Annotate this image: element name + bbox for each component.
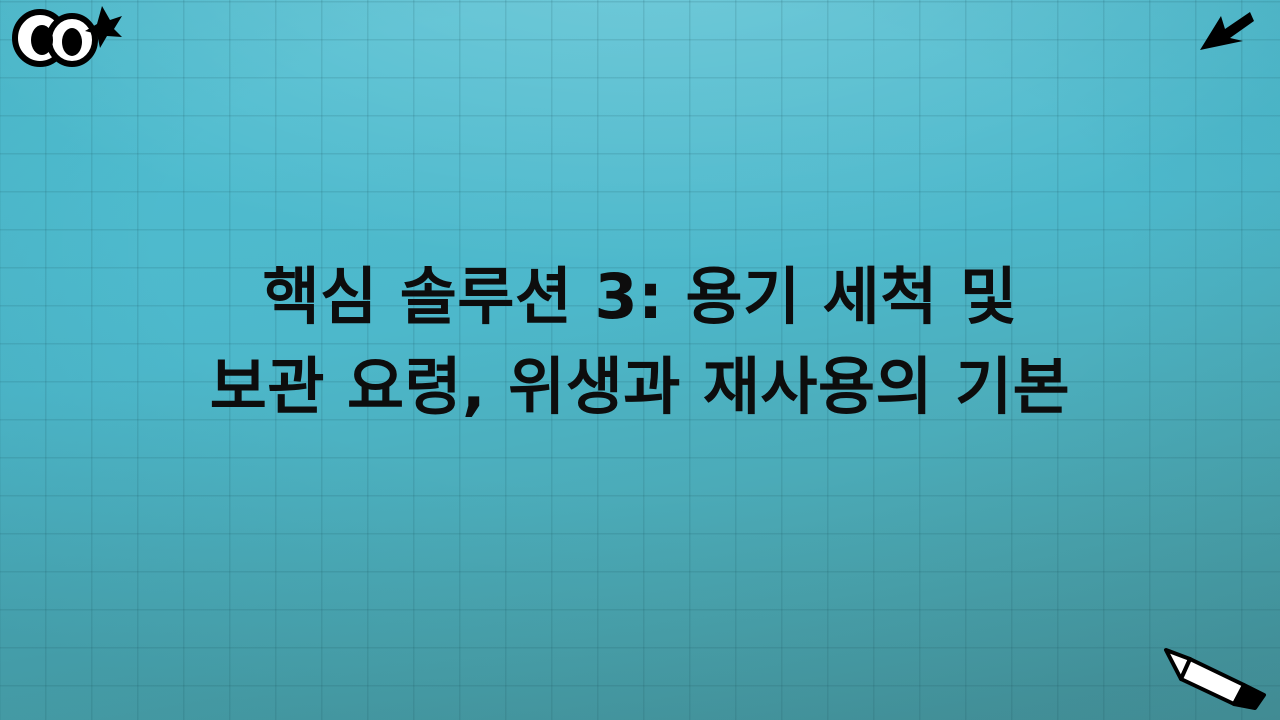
- arrow-down-left-icon: [1198, 8, 1254, 54]
- background-vignette: [0, 0, 1280, 720]
- arrow-glyph: [1198, 8, 1254, 54]
- eyes-with-star-logo: [6, 4, 122, 70]
- pencil-icon: [1160, 638, 1270, 712]
- slide-canvas: 핵심 솔루션 3: 용기 세척 및 보관 요령, 위생과 재사용의 기본: [0, 0, 1280, 720]
- pencil-glyph: [1160, 638, 1270, 712]
- eyes-star-icon: [6, 4, 122, 70]
